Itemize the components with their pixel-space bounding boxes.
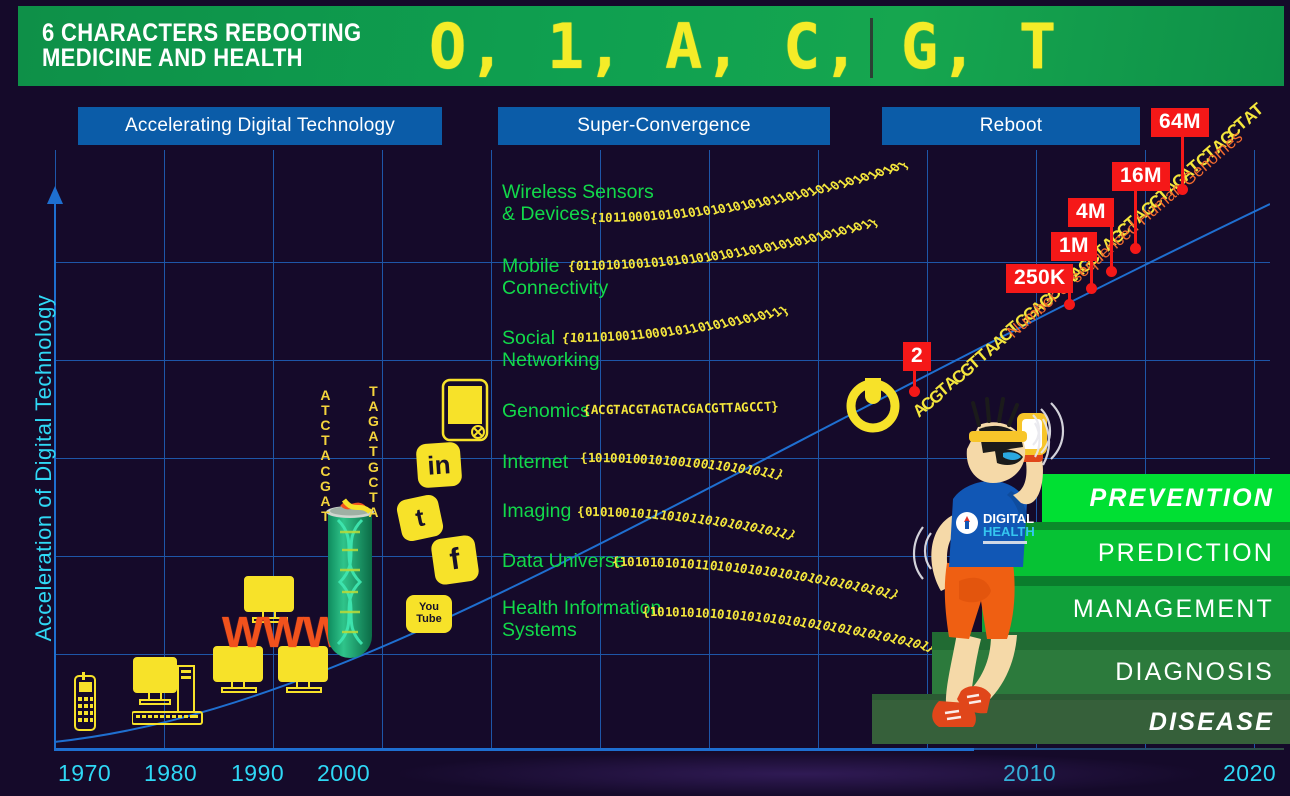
x-axis	[54, 748, 974, 751]
tab-label: Reboot	[980, 115, 1042, 137]
twitter-icon[interactable]: t	[395, 493, 445, 543]
convergence-binary-string: {011010100101010101010110101010101010101…	[568, 258, 877, 273]
convergence-binary-string: {1010101010101010101010101010101010101}	[642, 604, 936, 619]
staircase-step-label: PREVENTION	[1089, 484, 1274, 513]
convergence-label: Internet	[502, 452, 568, 474]
header-dna-letters: O, 1, A, C, G, T	[429, 10, 1058, 83]
genome-marker-label[interactable]: 2	[903, 342, 931, 371]
convergence-binary-string: {1011010011000101101010101011}	[562, 330, 788, 345]
x-axis-extension	[974, 748, 1284, 750]
x-axis-year-label: 2020	[1223, 760, 1276, 787]
staircase-step-label: PREDICTION	[1098, 539, 1274, 568]
grid-line-vertical	[491, 150, 492, 748]
header-banner: 6 CHARACTERS REBOOTING MEDICINE AND HEAL…	[18, 6, 1284, 86]
convergence-binary-string: {ACGTACGTAGTACGACGTTAGCCT}	[583, 402, 779, 417]
header-title: 6 CHARACTERS REBOOTING MEDICINE AND HEAL…	[42, 21, 361, 72]
genome-marker-dot	[1177, 184, 1188, 195]
genome-marker-dot	[1064, 299, 1075, 310]
infographic-canvas: Acceleration of Digital Technology 19701…	[0, 0, 1290, 796]
convergence-label: Data Universe	[502, 551, 626, 573]
x-axis-year-label: 1970	[58, 760, 111, 787]
tab-super-convergence[interactable]: Super-Convergence	[498, 107, 830, 145]
dna-strand-right-value: TAGATGCTA	[368, 383, 379, 520]
genome-marker-stem	[1134, 190, 1137, 247]
youtube-glyph: You Tube	[406, 602, 452, 625]
staircase-step-label: MANAGEMENT	[1073, 595, 1274, 624]
x-axis-year-label: 1990	[231, 760, 284, 787]
grid-line-vertical	[273, 150, 274, 748]
dna-strand-left-value: ATCTACGAT	[320, 387, 331, 524]
mobile-phone-icon	[70, 672, 102, 734]
facebook-icon[interactable]: f	[430, 534, 480, 586]
header-divider	[870, 18, 873, 78]
grid-line-horizontal	[55, 360, 1270, 361]
youtube-icon[interactable]: You Tube	[406, 595, 452, 633]
genome-marker-stem	[1110, 226, 1113, 270]
convergence-label: Health Information Systems	[502, 598, 661, 642]
x-axis-year-label: 2010	[1003, 760, 1056, 787]
svg-text:HEALTH: HEALTH	[983, 524, 1035, 539]
tab-reboot[interactable]: Reboot	[882, 107, 1140, 145]
genome-marker-stem	[1181, 136, 1184, 188]
staircase-step-label: DISEASE	[1149, 708, 1274, 737]
convergence-binary-string: {1010010010100100110101011}	[580, 450, 783, 465]
genome-marker-label[interactable]: 250K	[1006, 264, 1073, 293]
convergence-binary-string: {101010101011010101010101010101010101}	[612, 554, 898, 569]
x-axis-year-label: 1980	[144, 760, 197, 787]
genome-marker-dot	[1106, 266, 1117, 277]
grid-line-vertical	[600, 150, 601, 748]
staircase-step-label: DIAGNOSIS	[1115, 658, 1274, 687]
linkedin-icon[interactable]: in	[416, 442, 463, 489]
convergence-label: Imaging	[502, 501, 571, 523]
dna-strand-left-letters: ATCTACGAT	[320, 388, 331, 524]
tab-label: Super-Convergence	[577, 115, 750, 137]
grid-line-vertical	[709, 150, 710, 748]
y-axis-label: Acceleration of Digital Technology	[31, 258, 57, 678]
dna-strand-right-letters: TAGATGCTA	[368, 384, 379, 520]
twitter-glyph: t	[413, 503, 427, 533]
tab-accelerating-digital-technology[interactable]: Accelerating Digital Technology	[78, 107, 442, 145]
linkedin-glyph: in	[426, 449, 451, 482]
bottom-glow	[400, 752, 1200, 796]
header-title-line2: MEDICINE AND HEALTH	[42, 46, 361, 72]
genome-marker-label[interactable]: 16M	[1112, 162, 1170, 191]
convergence-label: Genomics	[502, 401, 590, 423]
genome-marker-dot	[1086, 283, 1097, 294]
genome-marker-dot	[1130, 243, 1141, 254]
genome-marker-label[interactable]: 64M	[1151, 108, 1209, 137]
genome-marker-label[interactable]: 4M	[1068, 198, 1114, 227]
genome-marker-label[interactable]: 1M	[1051, 232, 1097, 261]
convergence-binary-string: {010100101110101101010101011}	[577, 504, 795, 519]
runner-figure: DIGITAL HEALTH	[895, 395, 1085, 735]
genome-caption: Number of sequenced Human Genomes	[1003, 127, 1246, 342]
pda-device-icon	[441, 378, 491, 444]
desktop-computer-icon	[132, 656, 208, 734]
facebook-glyph: f	[448, 542, 463, 577]
header-title-line1: 6 CHARACTERS REBOOTING	[42, 19, 361, 47]
tab-label: Accelerating Digital Technology	[125, 115, 395, 137]
y-axis-arrow-icon	[47, 186, 63, 204]
x-axis-year-label: 2000	[317, 760, 370, 787]
